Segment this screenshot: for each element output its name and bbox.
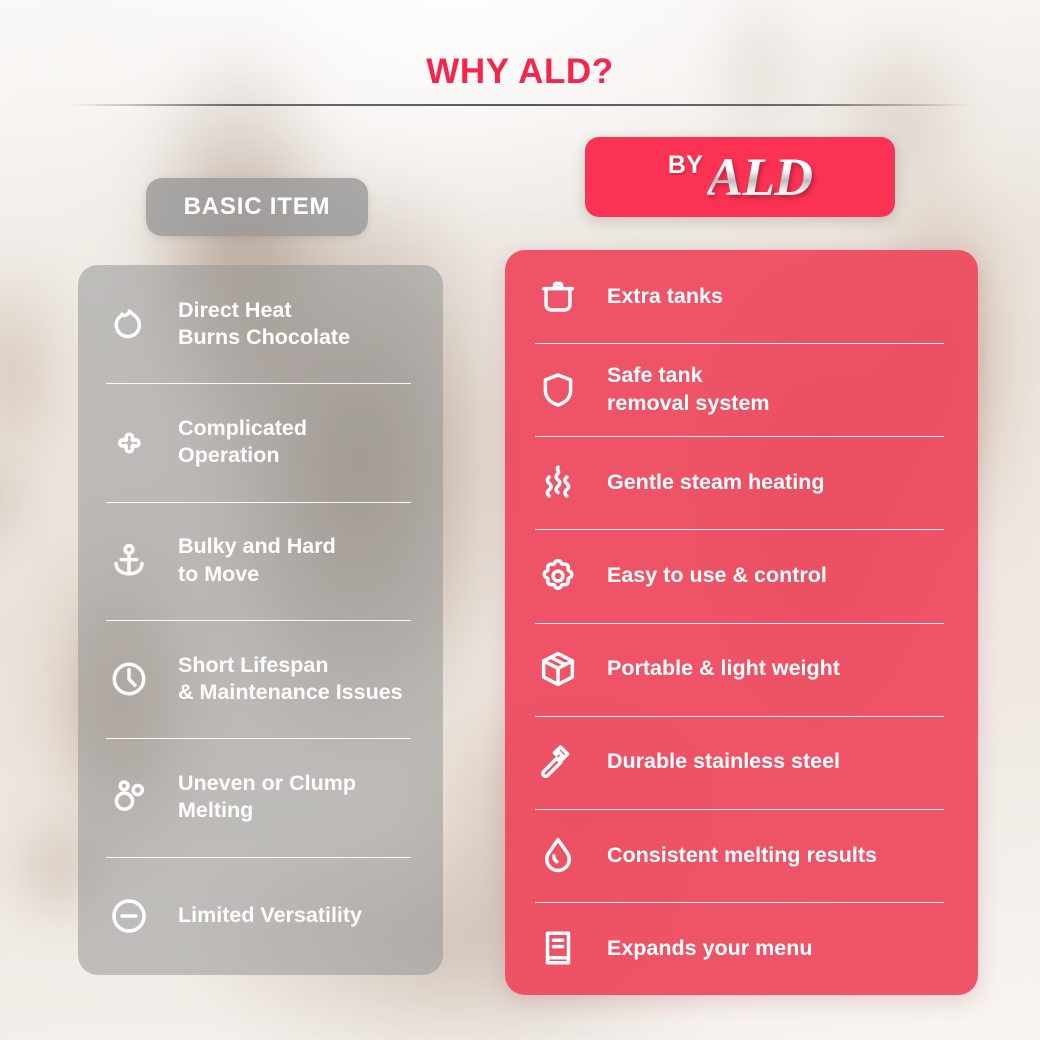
list-item-label: Direct Heat Burns Chocolate (178, 297, 350, 352)
list-item-label: Durable stainless steel (607, 748, 840, 776)
list-item: Direct Heat Burns Chocolate (106, 265, 415, 383)
gear-icon (535, 553, 581, 599)
list-item: Portable & light weight (535, 623, 948, 716)
puzzle-icon (106, 419, 152, 465)
list-item: Easy to use & control (535, 529, 948, 622)
list-item: Uneven or Clump Melting (106, 738, 415, 856)
list-item-label: Safe tank removal system (607, 362, 770, 417)
list-item-label: Bulky and Hard to Move (178, 533, 336, 588)
list-item-label: Short Lifespan & Maintenance Issues (178, 652, 403, 707)
list-item: Safe tank removal system (535, 343, 948, 436)
list-item-label: Easy to use & control (607, 562, 827, 590)
shield-icon (535, 367, 581, 413)
anchor-icon (106, 538, 152, 584)
flame-icon (106, 301, 152, 347)
badge-basic-item: BASIC ITEM (146, 178, 368, 236)
list-item-label: Uneven or Clump Melting (178, 770, 356, 825)
list-item: Durable stainless steel (535, 716, 948, 809)
badge-basic-item-label: BASIC ITEM (184, 193, 331, 221)
droplet-icon (535, 832, 581, 878)
minus-circle-icon (106, 893, 152, 939)
list-item: Consistent melting results (535, 809, 948, 902)
infographic-canvas: WHY ALD? BASIC ITEM BY ALD Direct Heat B… (0, 0, 1040, 1040)
badge-by-prefix: BY (668, 151, 703, 180)
box-icon (535, 646, 581, 692)
page-title: WHY ALD? (0, 52, 1040, 92)
list-item: Bulky and Hard to Move (106, 502, 415, 620)
list-item-label: Portable & light weight (607, 655, 840, 683)
panel-basic-item: Direct Heat Burns Chocolate Complicated … (78, 265, 443, 975)
list-item-label: Expands your menu (607, 935, 813, 963)
panel-by-ald: Extra tanks Safe tank removal system Gen… (505, 250, 978, 995)
clock-icon (106, 656, 152, 702)
list-item: Limited Versatility (106, 857, 415, 975)
list-item-label: Complicated Operation (178, 415, 307, 470)
badge-by-ald: BY ALD (585, 137, 895, 217)
bubbles-icon (106, 774, 152, 820)
badge-ald-brand: ALD (707, 146, 812, 208)
list-item-label: Gentle steam heating (607, 469, 824, 497)
list-item: Complicated Operation (106, 383, 415, 501)
steam-icon (535, 460, 581, 506)
list-item: Short Lifespan & Maintenance Issues (106, 620, 415, 738)
list-item-label: Limited Versatility (178, 902, 362, 930)
book-icon (535, 925, 581, 971)
hammer-icon (535, 739, 581, 785)
pot-icon (535, 274, 581, 320)
list-item: Extra tanks (535, 250, 948, 343)
list-item: Expands your menu (535, 902, 948, 995)
list-item: Gentle steam heating (535, 436, 948, 529)
list-item-label: Consistent melting results (607, 842, 877, 870)
title-divider (70, 104, 970, 106)
list-item-label: Extra tanks (607, 283, 723, 311)
